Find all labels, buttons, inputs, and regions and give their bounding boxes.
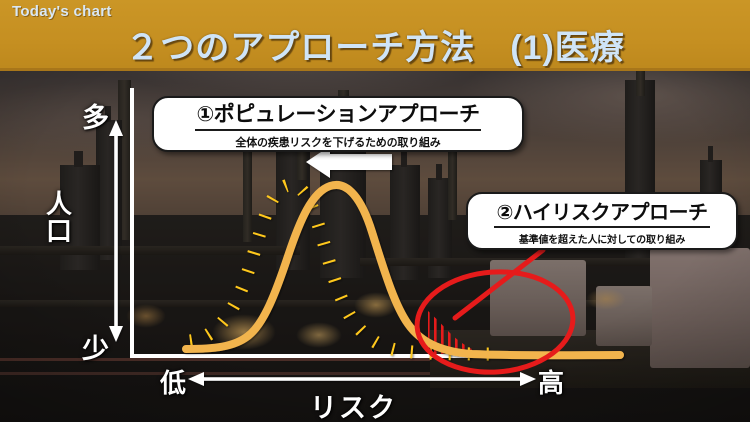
y-axis-top-label: 多: [82, 96, 109, 135]
callout2-pointer-line: [455, 250, 543, 318]
callout-subtitle: 基準値を超えた人に対しての取り組み: [519, 231, 685, 246]
curve-population-shifted: [190, 185, 500, 354]
y-axis-title: 人口: [44, 190, 71, 244]
x-axis-title: リスク: [310, 386, 397, 422]
y-axis-bottom-label: 少: [82, 327, 109, 366]
callout-high-risk-approach: ②ハイリスクアプローチ 基準値を超えた人に対しての取り組み: [466, 192, 738, 250]
x-axis-left-label: 低: [160, 363, 186, 400]
x-axis-right-label: 高: [538, 363, 564, 400]
callout-heading: ②ハイリスクアプローチ: [494, 196, 709, 228]
callout-heading: ①ポピュレーションアプローチ: [195, 98, 482, 131]
y-range-arrow: [109, 120, 123, 342]
slide-canvas: Today's chart ２つのアプローチ方法 (1)医療: [0, 0, 750, 422]
callout-population-approach: ①ポピュレーションアプローチ 全体の疾患リスクを下げるための取り組み: [152, 96, 524, 152]
callout-subtitle: 全体の疾患リスクを下げるための取り組み: [235, 134, 440, 150]
